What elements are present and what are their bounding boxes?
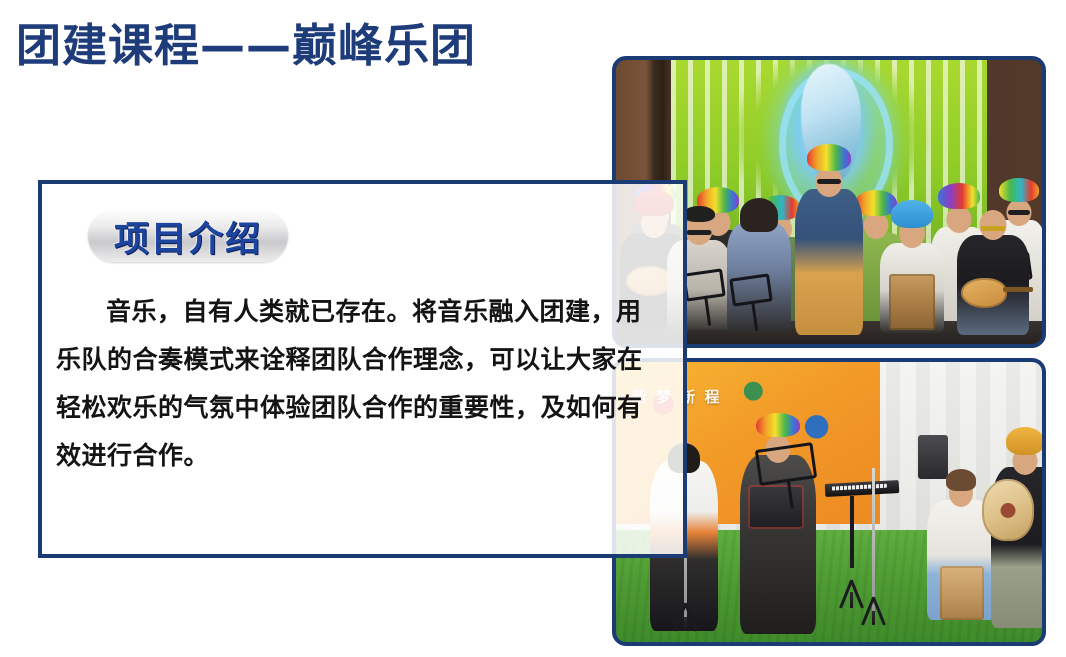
intro-body-text: 音乐，自有人类就已存在。将音乐融入团建，用乐队的合奏模式来诠释团队合作理念，可以… bbox=[56, 288, 656, 480]
sunglasses bbox=[981, 226, 1006, 231]
accordion-instrument bbox=[748, 485, 804, 529]
keyboard-stand bbox=[850, 496, 854, 568]
intro-heading-label: 项目介绍 bbox=[114, 211, 262, 262]
blonde-wig bbox=[1006, 427, 1042, 455]
page-title: 团建课程——巅峰乐团 bbox=[16, 18, 476, 74]
hair bbox=[740, 198, 778, 232]
cajon-drum bbox=[889, 274, 935, 330]
mic-tripod bbox=[872, 611, 875, 625]
keyboard-tripod bbox=[850, 592, 853, 608]
cajon-drum-seat bbox=[940, 566, 984, 620]
performer-singer-woman bbox=[727, 185, 791, 333]
acoustic-guitar bbox=[982, 479, 1034, 541]
intro-panel: 项目介绍 音乐，自有人类就已存在。将音乐融入团建，用乐队的合奏模式来诠释团队合作… bbox=[38, 180, 687, 558]
hair bbox=[683, 206, 715, 222]
sunglasses bbox=[817, 179, 841, 184]
rainbow-wig bbox=[756, 413, 800, 437]
performer-body bbox=[795, 189, 863, 335]
performer-lead-singer bbox=[795, 148, 863, 335]
music-stand bbox=[729, 274, 773, 307]
rainbow-wig bbox=[999, 178, 1039, 202]
mic-tripod bbox=[684, 617, 687, 631]
blue-wig bbox=[891, 200, 933, 228]
performer-ukulele-player bbox=[957, 199, 1029, 335]
intro-heading-badge: 项目介绍 bbox=[88, 210, 288, 262]
hair bbox=[946, 469, 976, 491]
rainbow-wig bbox=[807, 144, 851, 171]
ukulele bbox=[961, 278, 1007, 308]
music-stand bbox=[682, 268, 726, 301]
sunglasses bbox=[687, 230, 712, 235]
slide-root: 团建课程——巅峰乐团 bbox=[0, 0, 1066, 657]
